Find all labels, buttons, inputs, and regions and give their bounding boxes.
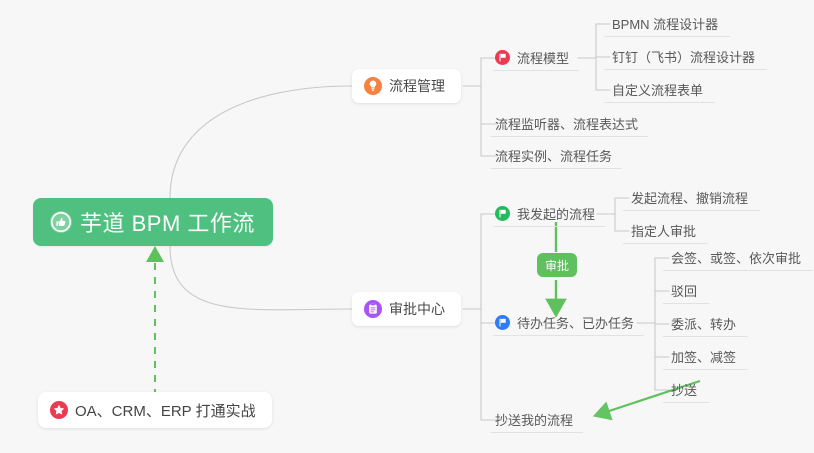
leaf-node[interactable]: 发起流程、撤销流程 xyxy=(623,185,760,211)
subnode-label: 流程模型 xyxy=(517,48,569,67)
subnode-label: 流程实例、流程任务 xyxy=(495,146,612,165)
subnode-label: 我发起的流程 xyxy=(517,204,595,223)
leaf-node[interactable]: 驳回 xyxy=(663,278,709,304)
leaf-label: 抄送 xyxy=(671,380,697,399)
leaf-node[interactable]: 自定义流程表单 xyxy=(604,77,715,103)
subnode-label: 待办任务、已办任务 xyxy=(517,313,634,332)
root-label: 芋道 BPM 工作流 xyxy=(80,206,255,238)
leaf-label: 驳回 xyxy=(671,281,697,300)
leaf-node[interactable]: 委派、转办 xyxy=(663,311,748,337)
leaf-label: 自定义流程表单 xyxy=(612,80,703,99)
bottom-note-card[interactable]: OA、CRM、ERP 打通实战 xyxy=(38,392,272,428)
branch-label: 审批中心 xyxy=(389,299,445,319)
subnode-cc-to-me-process[interactable]: 抄送我的流程 xyxy=(491,407,583,433)
mindmap-canvas: 芋道 BPM 工作流 流程管理 流程模型 BPMN 流程设计器 钉钉（飞书）流程 xyxy=(0,0,814,453)
subnode-process-instance[interactable]: 流程实例、流程任务 xyxy=(491,143,622,169)
bottom-note-label: OA、CRM、ERP 打通实战 xyxy=(75,400,256,421)
approval-tag-label: 审批 xyxy=(545,257,569,274)
branch-label: 流程管理 xyxy=(389,76,445,96)
clipboard-icon xyxy=(364,300,382,318)
approval-tag[interactable]: 审批 xyxy=(537,253,577,277)
star-icon xyxy=(50,401,68,419)
subnode-process-model[interactable]: 流程模型 xyxy=(493,45,579,71)
leaf-node[interactable]: 钉钉（飞书）流程设计器 xyxy=(604,44,767,70)
subnode-label: 抄送我的流程 xyxy=(495,410,573,429)
flag-icon xyxy=(495,50,510,65)
lightbulb-icon xyxy=(364,77,382,95)
branch-node-process-management[interactable]: 流程管理 xyxy=(352,69,461,103)
leaf-node[interactable]: 会签、或签、依次审批 xyxy=(663,245,813,271)
subnode-label: 流程监听器、流程表达式 xyxy=(495,114,638,133)
branch-node-approval-center[interactable]: 审批中心 xyxy=(352,292,461,326)
leaf-label: 发起流程、撤销流程 xyxy=(631,188,748,207)
thumbs-up-icon xyxy=(49,210,73,234)
subnode-todo-done-tasks[interactable]: 待办任务、已办任务 xyxy=(493,310,644,336)
leaf-node[interactable]: 加签、减签 xyxy=(663,344,748,370)
leaf-label: 钉钉（飞书）流程设计器 xyxy=(612,47,755,66)
subnode-my-started-process[interactable]: 我发起的流程 xyxy=(493,201,605,227)
root-node[interactable]: 芋道 BPM 工作流 xyxy=(33,198,273,246)
flag-icon xyxy=(495,315,510,330)
leaf-label: 会签、或签、依次审批 xyxy=(671,248,801,267)
leaf-label: 指定人审批 xyxy=(631,221,696,240)
flag-icon xyxy=(495,206,510,221)
leaf-node[interactable]: 抄送 xyxy=(663,377,709,403)
leaf-label: BPMN 流程设计器 xyxy=(612,14,718,33)
leaf-label: 委派、转办 xyxy=(671,314,736,333)
leaf-label: 加签、减签 xyxy=(671,347,736,366)
leaf-node[interactable]: 指定人审批 xyxy=(623,218,708,244)
subnode-process-listener[interactable]: 流程监听器、流程表达式 xyxy=(491,111,648,137)
leaf-node[interactable]: BPMN 流程设计器 xyxy=(604,11,730,37)
